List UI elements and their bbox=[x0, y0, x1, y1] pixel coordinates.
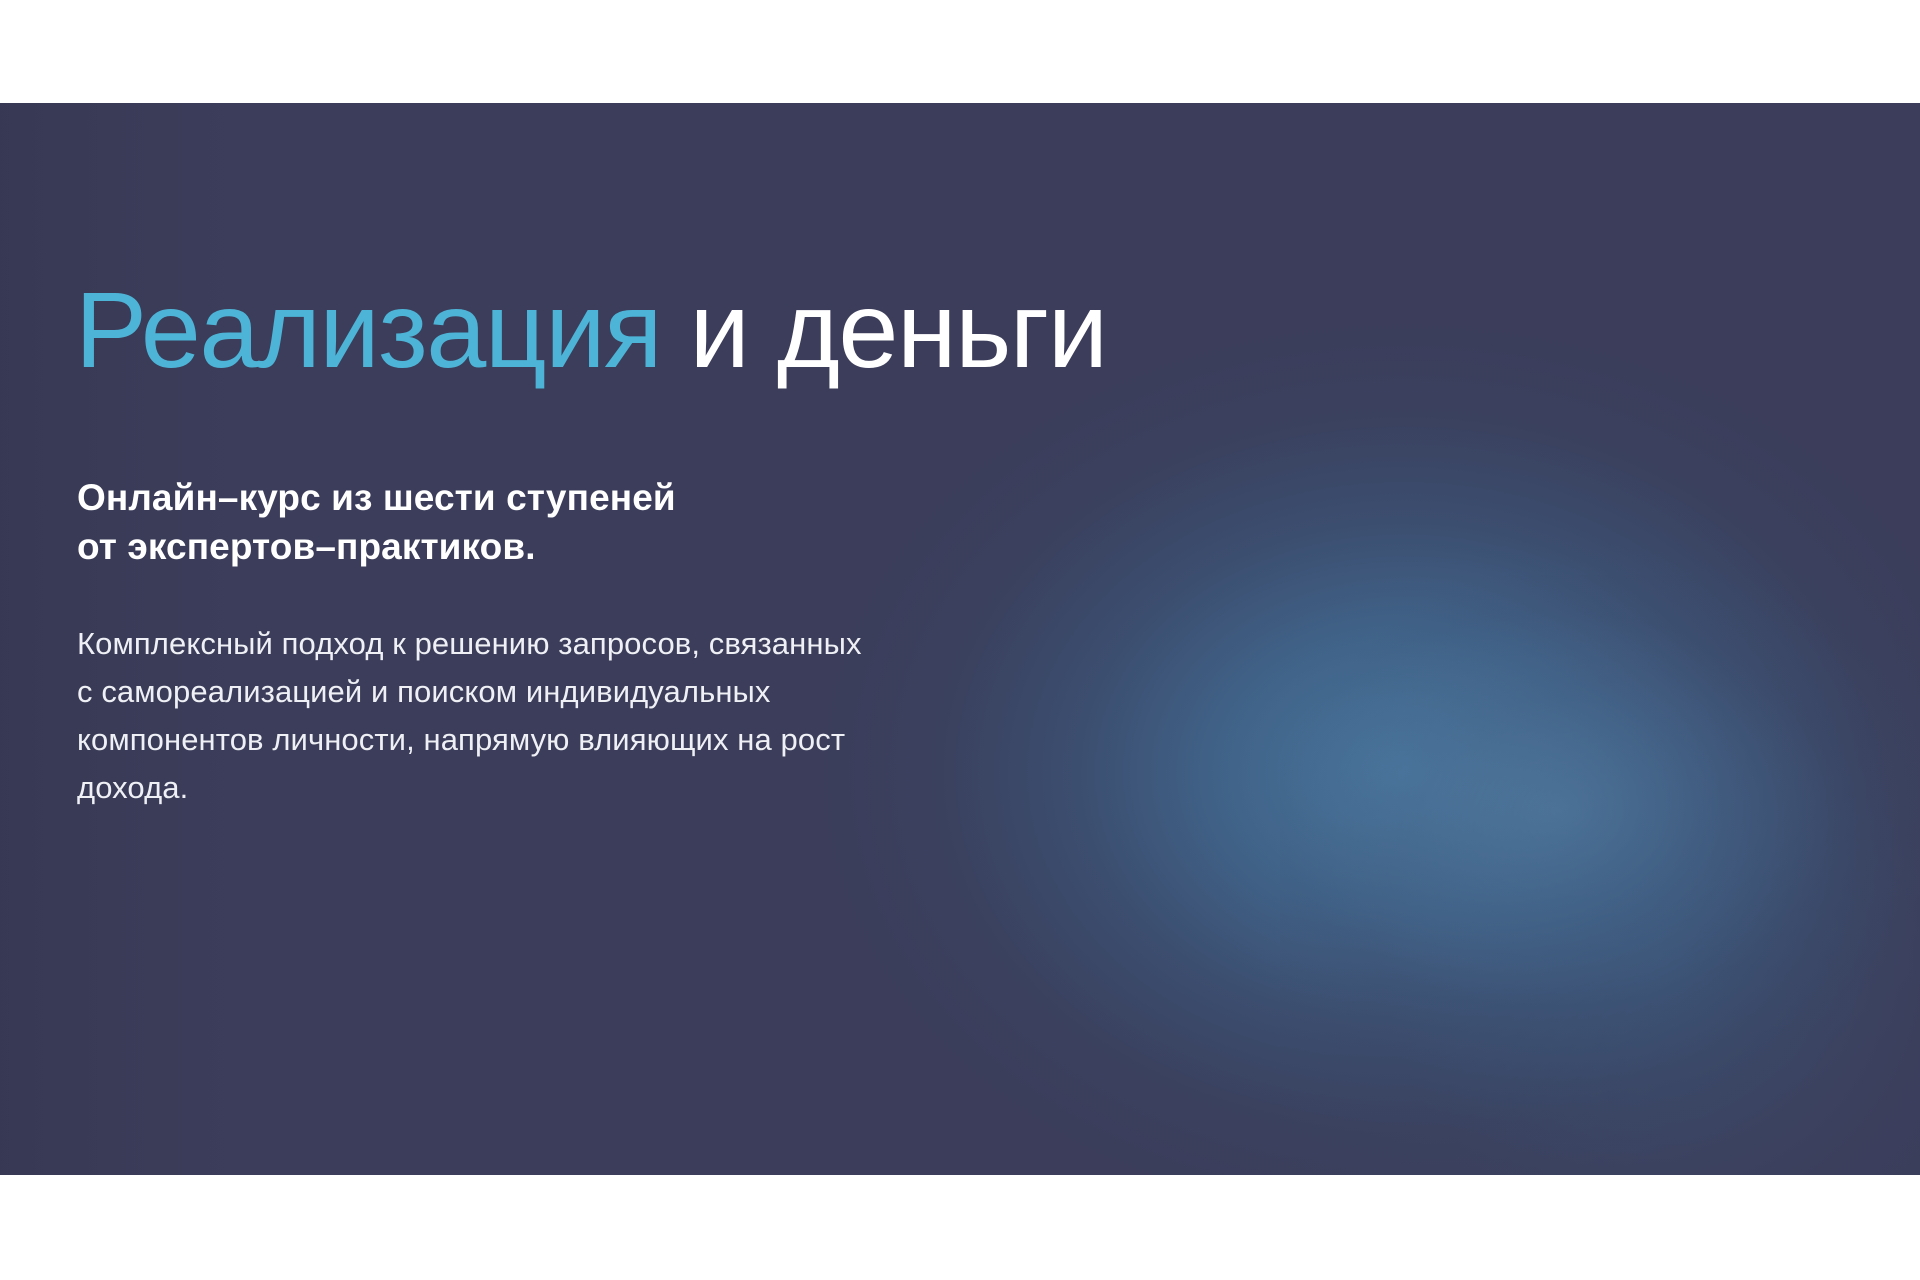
hero-subtitle-line-1: Онлайн–курс из шести ступеней bbox=[77, 473, 676, 522]
page-title-space bbox=[661, 269, 690, 390]
hero-content: Реализация и деньги Онлайн–курс из шести… bbox=[75, 103, 1575, 1175]
hero-description-line-3: компонентов личности, напрямую влияющих … bbox=[77, 716, 862, 764]
hero-subtitle-line-2: от экспертов–практиков. bbox=[77, 522, 676, 571]
screenshot-root: Реализация и деньги Онлайн–курс из шести… bbox=[0, 0, 1920, 1280]
page-title-plain: и деньги bbox=[690, 269, 1107, 390]
hero-banner: Реализация и деньги Онлайн–курс из шести… bbox=[0, 103, 1920, 1175]
hero-description-line-1: Комплексный подход к решению запросов, с… bbox=[77, 620, 862, 668]
hero-subtitle: Онлайн–курс из шести ступеней от эксперт… bbox=[77, 473, 676, 571]
hero-description: Комплексный подход к решению запросов, с… bbox=[77, 620, 862, 812]
hero-description-line-2: с самореализацией и поиском индивидуальн… bbox=[77, 668, 862, 716]
page-title-accent: Реализация bbox=[75, 269, 661, 390]
page-title: Реализация и деньги bbox=[75, 273, 1107, 386]
hero-description-line-4: дохода. bbox=[77, 764, 862, 812]
